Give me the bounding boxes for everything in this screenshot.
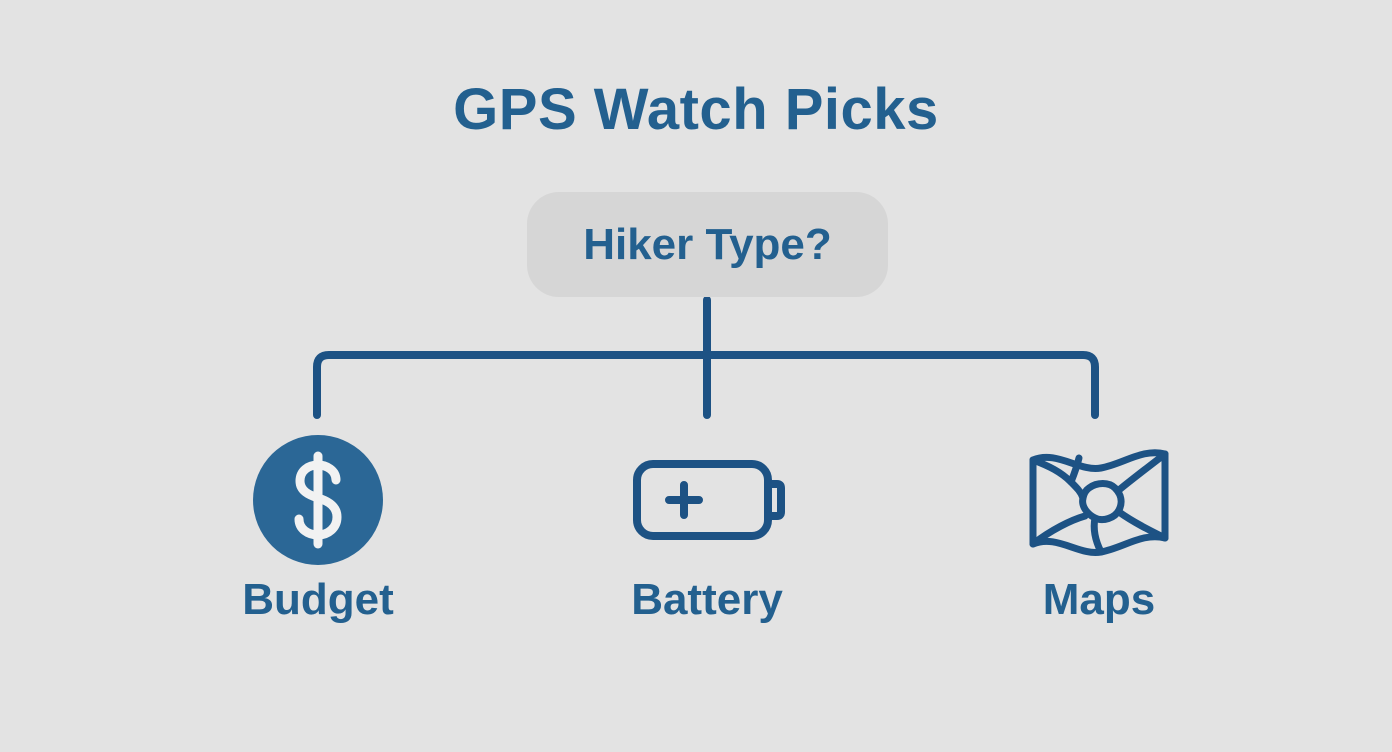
branch-battery[interactable]: Battery (577, 430, 837, 630)
folded-map-icon (1027, 442, 1171, 558)
branch-maps-icon-wrap (1027, 430, 1171, 570)
diagram-canvas: GPS Watch Picks Hiker Type? Budget (0, 0, 1392, 752)
connector-bus (317, 355, 1095, 415)
branch-maps-label: Maps (1043, 574, 1155, 626)
root-decision-node-label: Hiker Type? (583, 220, 832, 270)
page-title: GPS Watch Picks (0, 74, 1392, 146)
branch-maps[interactable]: Maps (969, 430, 1229, 630)
branch-budget[interactable]: Budget (188, 430, 448, 630)
branch-battery-label: Battery (631, 574, 783, 626)
dollar-circle-icon (253, 435, 383, 565)
branch-budget-icon-wrap (253, 430, 383, 570)
battery-plus-icon (629, 452, 785, 548)
branch-battery-icon-wrap (629, 430, 785, 570)
branch-budget-label: Budget (242, 574, 394, 626)
dollar-sign-icon (278, 450, 358, 550)
root-decision-node[interactable]: Hiker Type? (527, 192, 888, 297)
